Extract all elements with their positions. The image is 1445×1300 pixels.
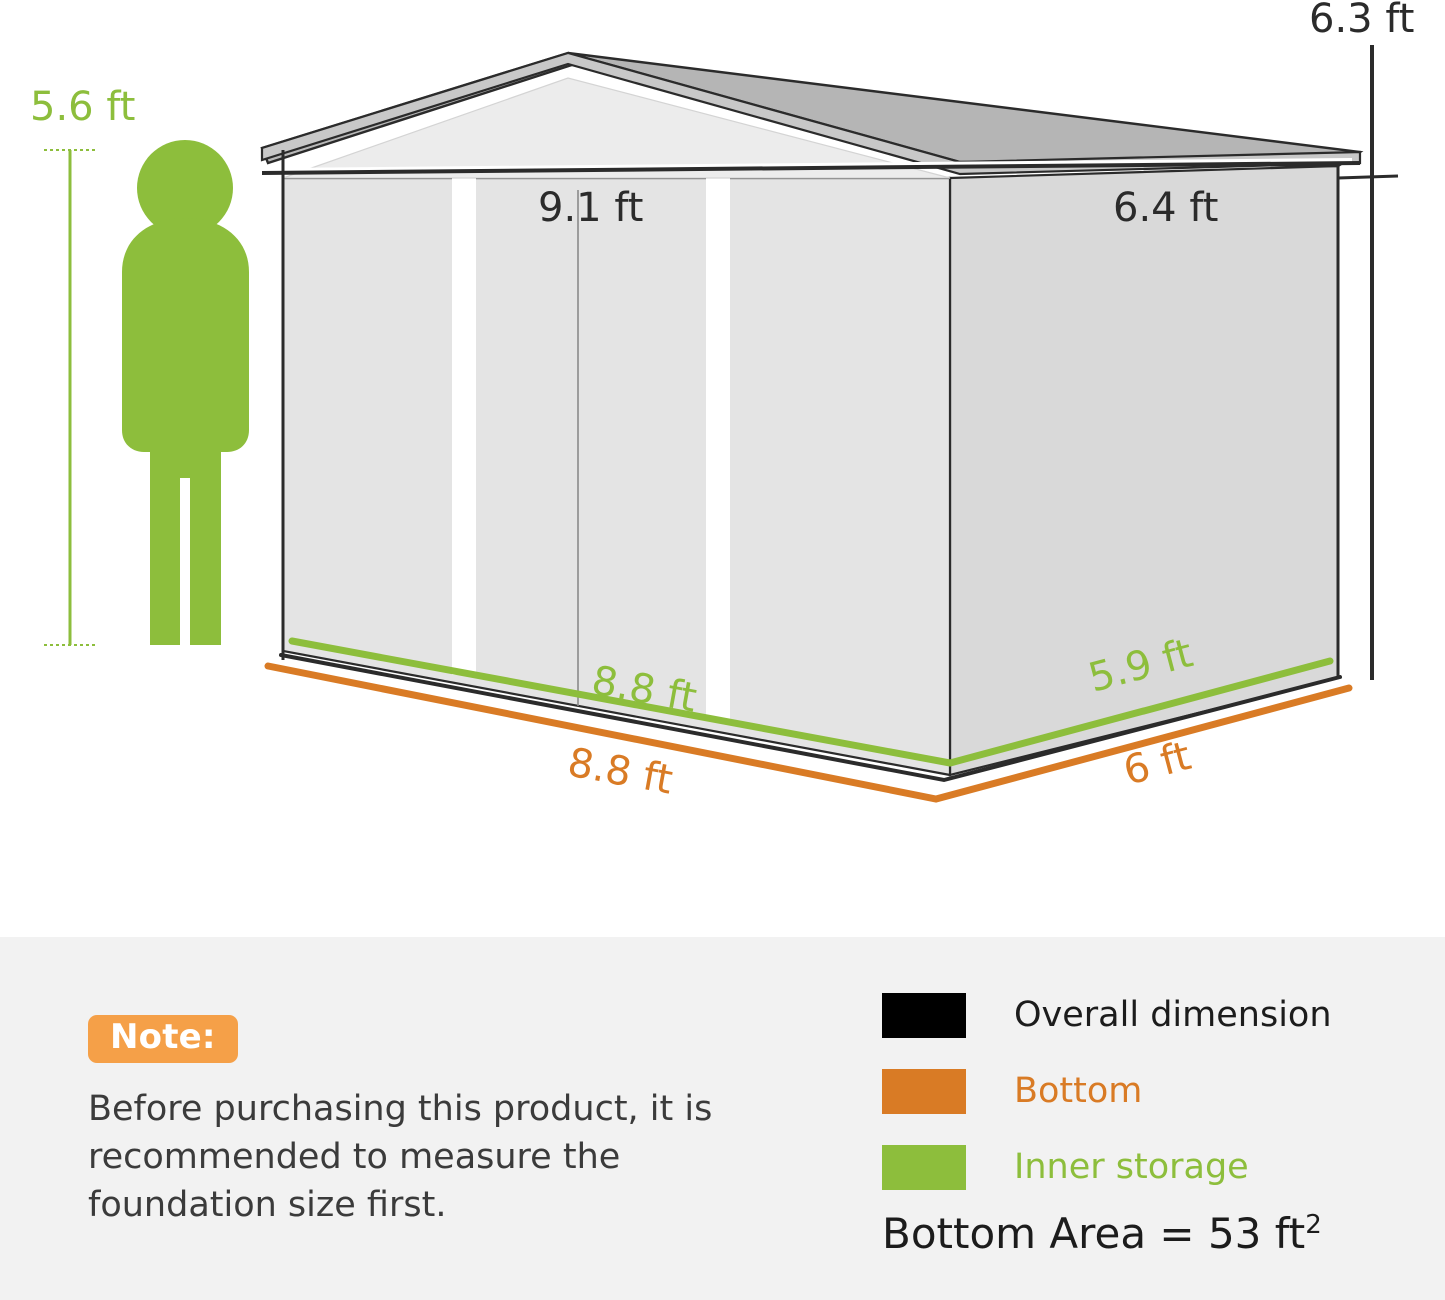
note-badge: Note: bbox=[88, 1015, 238, 1063]
front-width-label: 9.1 ft bbox=[538, 185, 643, 231]
legend-item-overall-dimension: Overall dimension bbox=[882, 977, 1402, 1053]
side-height-dimension bbox=[1338, 166, 1398, 678]
legend-swatch-bottom bbox=[882, 1069, 966, 1114]
legend-item-bottom: Bottom bbox=[882, 1053, 1402, 1129]
bottom-area-superscript: 2 bbox=[1305, 1210, 1322, 1240]
shed-dimension-illustration: 5.6 ft bbox=[0, 0, 1445, 935]
person-height-label: 5.6 ft bbox=[30, 84, 135, 130]
info-panel: Note: Before purchasing this product, it… bbox=[0, 935, 1445, 1300]
legend-swatch-inner-storage bbox=[882, 1145, 966, 1190]
product-dimension-diagram: 5.6 ft bbox=[0, 0, 1445, 1298]
legend-swatch-overall-dimension bbox=[882, 993, 966, 1038]
bottom-area-value: Bottom Area = 53 ft bbox=[882, 1209, 1305, 1258]
bottom-left-label: 8.8 ft bbox=[564, 740, 676, 804]
legend: Overall dimension Bottom Inner storage bbox=[882, 977, 1402, 1205]
legend-item-inner-storage: Inner storage bbox=[882, 1129, 1402, 1205]
side-height-label: 6.4 ft bbox=[1113, 185, 1218, 231]
legend-label-overall-dimension: Overall dimension bbox=[1014, 998, 1332, 1033]
person-silhouette bbox=[122, 140, 249, 645]
overall-height-label: 6.3 ft bbox=[1309, 0, 1414, 42]
bottom-area-text: Bottom Area = 53 ft2 bbox=[882, 1209, 1322, 1258]
person-height-dimension bbox=[44, 150, 97, 645]
bottom-right-label: 6 ft bbox=[1119, 733, 1196, 795]
note-text: Before purchasing this product, it is re… bbox=[88, 1085, 758, 1230]
note-block: Note: Before purchasing this product, it… bbox=[88, 1015, 778, 1230]
legend-label-inner-storage: Inner storage bbox=[1014, 1150, 1249, 1185]
legend-label-bottom: Bottom bbox=[1014, 1074, 1142, 1109]
